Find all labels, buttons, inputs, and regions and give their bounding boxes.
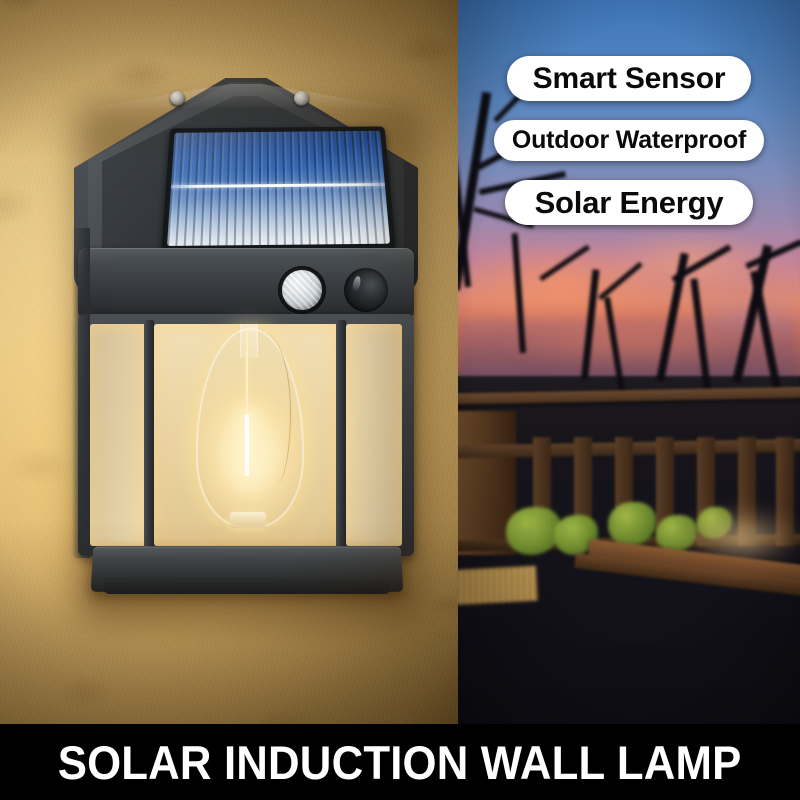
- bottom-title-banner: SOLAR INDUCTION WALL LAMP: [0, 724, 800, 800]
- product-title: SOLAR INDUCTION WALL LAMP: [58, 739, 742, 786]
- mounting-screw-icon: [294, 91, 309, 106]
- feature-badge-label: Smart Sensor: [533, 64, 726, 94]
- feature-badge-outdoor-waterproof[interactable]: Outdoor Waterproof: [494, 120, 764, 161]
- solar-panel: [161, 126, 395, 251]
- lantern-mullion: [336, 320, 346, 550]
- bulb-filament: [245, 414, 249, 476]
- lantern-mullion: [144, 320, 154, 550]
- left-product-photo: [0, 0, 458, 724]
- lamp-roof-highlight: [90, 84, 402, 110]
- solar-wall-lamp: [72, 78, 420, 608]
- lamp-base-front: [104, 578, 390, 594]
- feature-badge-list: Smart Sensor Outdoor Waterproof Solar En…: [458, 0, 800, 260]
- mounting-screw-icon: [170, 91, 185, 106]
- motion-sensor-icon: [278, 266, 326, 314]
- wooden-deck-railing: [458, 376, 800, 593]
- bulb-filament-wire: [254, 334, 291, 484]
- lantern-housing: [78, 314, 414, 556]
- solar-panel-cells: [167, 131, 390, 246]
- sensor-bar-inner: [112, 254, 384, 312]
- sensor-bar: [78, 248, 414, 320]
- deck-rail-top: [458, 386, 800, 404]
- feature-badge-solar-energy[interactable]: Solar Energy: [505, 180, 754, 225]
- filament-bulb: [196, 328, 300, 524]
- motion-sensor-facets: [282, 270, 322, 310]
- lamp-wall-mount: [72, 228, 90, 558]
- glass-panel-right: [346, 324, 402, 546]
- bulb-base: [230, 512, 266, 528]
- product-marketing-image: Smart Sensor Outdoor Waterproof Solar En…: [0, 0, 800, 800]
- feature-badge-smart-sensor[interactable]: Smart Sensor: [507, 56, 752, 101]
- wicker-chair: [458, 565, 538, 604]
- feature-badge-label: Solar Energy: [535, 187, 724, 218]
- solar-panel-sheen: [167, 131, 390, 246]
- glass-panel-left: [90, 324, 146, 546]
- light-sensor-icon: [344, 268, 388, 312]
- motion-sensor-dome: [282, 270, 322, 310]
- feature-badge-label: Outdoor Waterproof: [512, 128, 746, 153]
